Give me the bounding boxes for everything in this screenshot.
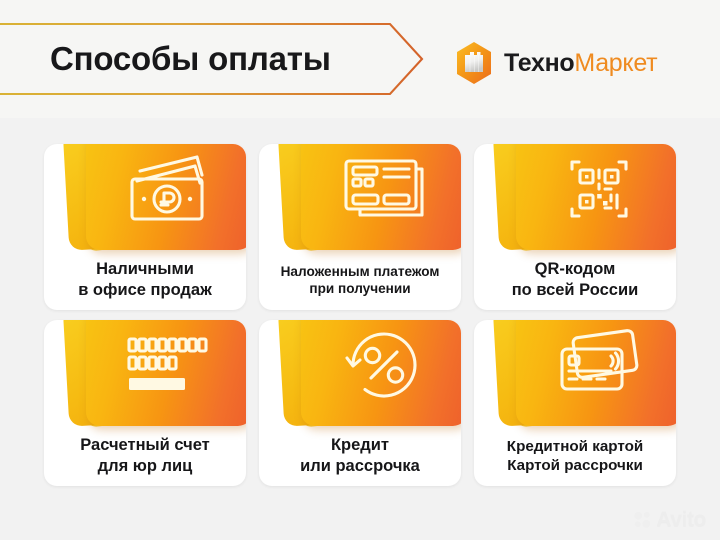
card-artwork bbox=[44, 320, 246, 426]
credit-cards-contactless-icon bbox=[553, 329, 645, 401]
card-caption: Кредитной картой Картой рассрочки bbox=[474, 426, 676, 486]
card-artwork bbox=[44, 144, 246, 250]
card-caption-line1: Наложенным платежом bbox=[281, 263, 440, 280]
card-caption-line2: Картой рассрочки bbox=[507, 456, 643, 475]
avito-dots-icon bbox=[633, 510, 652, 529]
card-stack-front bbox=[86, 144, 246, 250]
payment-methods-grid: Наличными в офисе продаж bbox=[44, 144, 676, 486]
card-caption: Кредит или рассрочка bbox=[259, 426, 461, 486]
card-caption: QR-кодом по всей России bbox=[474, 250, 676, 310]
account-number-icon bbox=[123, 329, 215, 401]
payment-methods-banner: Способы оплаты bbox=[0, 0, 720, 540]
card-caption-line2: при получении bbox=[309, 280, 410, 297]
payment-card-qr-code[interactable]: QR-кодом по всей России bbox=[474, 144, 676, 310]
payment-card-credit-installment[interactable]: Кредит или рассрочка bbox=[259, 320, 461, 486]
card-stack-front bbox=[516, 144, 676, 250]
card-caption-line1: Наличными bbox=[96, 259, 194, 280]
brand-name-accent: Маркет bbox=[574, 49, 657, 77]
card-caption: Наличными в офисе продаж bbox=[44, 250, 246, 310]
card-stack-front bbox=[86, 320, 246, 426]
card-caption: Наложенным платежом при получении bbox=[259, 250, 461, 310]
payment-card-cash-on-delivery[interactable]: Наложенным платежом при получении bbox=[259, 144, 461, 310]
card-caption-line2: по всей России bbox=[512, 280, 639, 301]
card-caption-line1: Кредитной картой bbox=[507, 437, 643, 456]
avito-watermark-text: Avito bbox=[656, 509, 706, 530]
card-caption-line1: Расчетный счет bbox=[80, 435, 210, 456]
card-artwork bbox=[474, 320, 676, 426]
card-artwork bbox=[259, 320, 461, 426]
invoice-document-icon bbox=[338, 153, 430, 225]
payment-card-cash-in-office[interactable]: Наличными в офисе продаж bbox=[44, 144, 246, 310]
brand-logo: ТехноМаркет bbox=[452, 40, 657, 86]
brand-name: ТехноМаркет bbox=[504, 51, 657, 76]
payment-card-credit-card[interactable]: Кредитной картой Картой рассрочки bbox=[474, 320, 676, 486]
card-caption-line2: для юр лиц bbox=[98, 456, 193, 477]
page-title: Способы оплаты bbox=[50, 22, 380, 96]
card-caption-line1: Кредит bbox=[331, 435, 389, 456]
brand-name-primary: Техно bbox=[504, 49, 574, 77]
card-stack-front bbox=[301, 320, 461, 426]
avito-watermark: Avito bbox=[633, 509, 706, 530]
card-artwork bbox=[474, 144, 676, 250]
card-caption-line2: или рассрочка bbox=[300, 456, 420, 477]
card-caption-line2: в офисе продаж bbox=[78, 280, 212, 301]
card-artwork bbox=[259, 144, 461, 250]
card-caption-line1: QR-кодом bbox=[535, 259, 616, 280]
card-stack-front bbox=[301, 144, 461, 250]
header: Способы оплаты bbox=[0, 0, 720, 118]
percent-refresh-icon bbox=[338, 329, 430, 401]
banknotes-ruble-icon bbox=[123, 153, 215, 225]
hexagon-logo-icon bbox=[452, 40, 496, 86]
card-caption: Расчетный счет для юр лиц bbox=[44, 426, 246, 486]
qr-code-icon bbox=[553, 153, 645, 225]
payment-card-bank-account[interactable]: Расчетный счет для юр лиц bbox=[44, 320, 246, 486]
card-stack-front bbox=[516, 320, 676, 426]
